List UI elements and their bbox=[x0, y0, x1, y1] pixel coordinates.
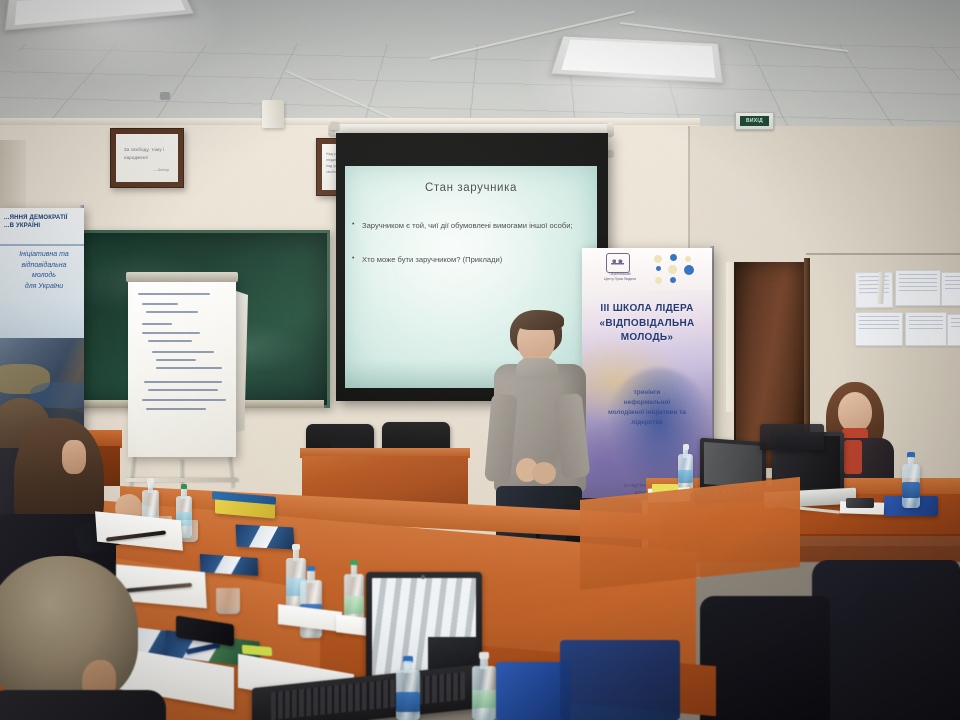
chair-foreground bbox=[700, 596, 830, 720]
wall-paper-sheet bbox=[905, 312, 947, 346]
flipchart-clamp bbox=[126, 272, 238, 282]
person-participant-2 bbox=[0, 556, 156, 720]
person-seated-right-foreground bbox=[812, 560, 960, 720]
framed-quote-1: За свободу, тому і народжені! — Автор bbox=[110, 128, 184, 188]
org-logo-caption: Чернігівський Центр Прав Людини bbox=[594, 272, 646, 282]
slide-title: Стан заручника bbox=[345, 182, 597, 194]
drinking-glass[interactable] bbox=[216, 588, 240, 614]
bottle-body bbox=[472, 666, 496, 720]
bottle-label bbox=[396, 692, 420, 712]
banner-sub-line4: лідерства bbox=[592, 418, 702, 428]
banner-sub-line3: молодіжної ініціативи та bbox=[592, 408, 702, 418]
banner-title-line2: «ВІДПОВІДАЛЬНА bbox=[586, 317, 708, 332]
banner-left-heading-line1: ...ЯННЯ ДЕМОКРАТІЇ bbox=[4, 214, 80, 222]
desk-object bbox=[330, 437, 360, 448]
flipchart-ink-line bbox=[142, 332, 200, 334]
flipchart-ink-line bbox=[142, 399, 226, 401]
bottle-label bbox=[678, 470, 693, 483]
flipchart-ink-line bbox=[142, 323, 172, 325]
dot-cream bbox=[668, 265, 677, 274]
participant2-head bbox=[0, 556, 138, 706]
photo-scene: За свободу, тому і народжені! — Автор На… bbox=[0, 0, 960, 720]
dot-blue bbox=[684, 265, 694, 275]
org-logo-caption-line2: Центр Прав Людини bbox=[594, 277, 646, 282]
light-louver-grid bbox=[561, 40, 715, 78]
slide-bullet-2: Хто може бути заручником? (Приклади) bbox=[362, 254, 587, 265]
bottle-body bbox=[902, 464, 920, 508]
frame-quote-text: За свободу, тому і народжені! bbox=[124, 146, 172, 161]
exit-sign: ВИХІД bbox=[735, 112, 774, 130]
banner-left-heading: ...ЯННЯ ДЕМОКРАТІЇ ...В УКРАЇНІ bbox=[0, 208, 84, 246]
banner-sub-line2: неформальної bbox=[592, 398, 702, 408]
flipchart-ink-line bbox=[142, 303, 178, 305]
bottle-label bbox=[344, 596, 364, 614]
flipchart-ink-line bbox=[146, 408, 206, 410]
banner-right-title: III ШКОЛА ЛІДЕРА «ВІДПОВІДАЛЬНА МОЛОДЬ» bbox=[586, 302, 708, 346]
banner-title-line3: МОЛОДЬ» bbox=[586, 331, 708, 346]
frame-quote-author: — Автор bbox=[153, 168, 169, 172]
banner-left-slogan-line4: для України bbox=[8, 282, 80, 293]
presenter-collar bbox=[516, 358, 558, 376]
flipchart-ink-line bbox=[156, 359, 196, 361]
slide-bullet-1: Заручником є той, чиї дії обумовлені вим… bbox=[362, 220, 587, 231]
org-logo-icon bbox=[606, 253, 630, 273]
bottle-label bbox=[902, 482, 920, 498]
wall-paper-sheet bbox=[895, 270, 941, 306]
flipchart-ink-line bbox=[152, 351, 214, 353]
banner-left-slogan-line3: молодь bbox=[8, 271, 80, 282]
exit-sign-label: ВИХІД bbox=[740, 116, 769, 126]
wall-mounted-box bbox=[262, 100, 284, 128]
banner-right-subtitle: тренінги неформальної молодіжної ініціат… bbox=[592, 388, 702, 428]
banner-left-slogan-line2: відповідальна bbox=[8, 261, 80, 272]
flipchart-ink-line bbox=[148, 340, 192, 342]
flipchart-ink-line bbox=[156, 367, 222, 369]
ceiling-light-fixture bbox=[4, 0, 194, 31]
wall-paper-sheet bbox=[941, 272, 960, 306]
banner-left-divider bbox=[0, 244, 84, 246]
wall-paper-sheet bbox=[947, 314, 960, 346]
dot-blue bbox=[670, 277, 676, 283]
wall-paper-sheet bbox=[855, 272, 894, 309]
frame-mat: За свободу, тому і народжені! — Автор bbox=[116, 134, 178, 182]
bottle-label bbox=[472, 690, 496, 708]
water-bottle[interactable] bbox=[396, 656, 420, 720]
water-bottle[interactable] bbox=[472, 652, 496, 720]
banner-left-heading-line2: ...В УКРАЇНІ bbox=[4, 222, 80, 230]
dot-cream bbox=[685, 256, 691, 262]
flipchart-ink-line bbox=[146, 311, 198, 313]
facilitator-head bbox=[838, 392, 872, 432]
participant2-shoulders bbox=[0, 690, 166, 720]
facilitator-scarf-front bbox=[844, 440, 862, 474]
screen-bracket bbox=[330, 122, 339, 130]
phone[interactable] bbox=[846, 498, 874, 508]
participant1-face bbox=[62, 440, 86, 474]
banner-left-slogan-line1: Ініціативна та bbox=[8, 250, 80, 261]
presenter-hand-right bbox=[532, 462, 556, 484]
dot-blue bbox=[656, 266, 661, 271]
ceiling-vent bbox=[160, 92, 170, 99]
banner-sub-line1: тренінги bbox=[592, 388, 702, 398]
light-louver-grid bbox=[15, 0, 186, 25]
blue-bag[interactable] bbox=[560, 640, 680, 720]
dot-cream bbox=[655, 277, 662, 284]
logo-dots-pattern bbox=[652, 254, 698, 286]
dot-cream bbox=[654, 255, 662, 263]
blue-folder[interactable] bbox=[496, 662, 570, 720]
roller-end-cap bbox=[607, 122, 614, 137]
webcam-icon bbox=[421, 575, 425, 579]
flipchart-ink-line bbox=[138, 293, 210, 295]
banner-left-slogan: Ініціативна та відповідальна молодь для … bbox=[8, 250, 80, 292]
drinking-glass[interactable] bbox=[180, 520, 198, 542]
wall-rail bbox=[806, 253, 960, 255]
flipchart-ink-line bbox=[148, 389, 218, 391]
presenter-hair-front bbox=[516, 310, 564, 330]
laptop-lid[interactable] bbox=[760, 424, 824, 450]
flipchart-ink-line bbox=[144, 381, 222, 383]
banner-title-line1: III ШКОЛА ЛІДЕРА bbox=[586, 302, 708, 317]
projector-hotspot bbox=[365, 179, 546, 321]
water-bottle[interactable] bbox=[902, 452, 920, 508]
laptop-display bbox=[372, 578, 476, 680]
wall-paper-sheet bbox=[855, 312, 903, 346]
dot-blue bbox=[670, 254, 677, 261]
bottle-body bbox=[396, 670, 420, 720]
